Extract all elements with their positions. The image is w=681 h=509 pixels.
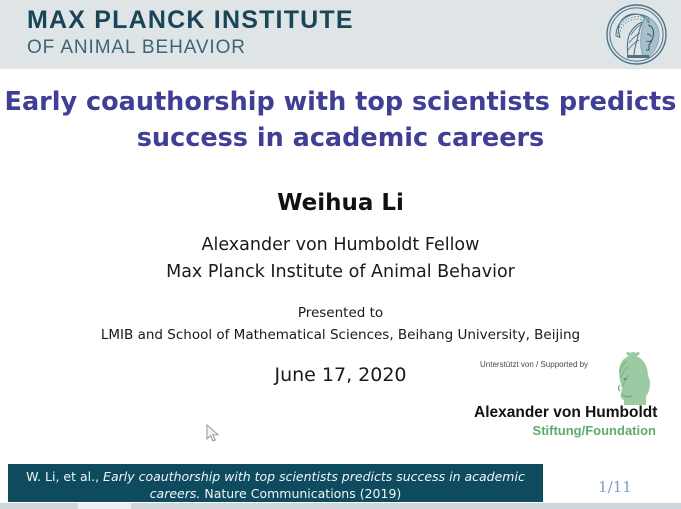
presentation-slide: MAX PLANCK INSTITUTE OF ANIMAL BEHAVIOR … — [0, 0, 681, 509]
mouse-cursor — [206, 424, 220, 443]
max-planck-wordmark: MAX PLANCK INSTITUTE OF ANIMAL BEHAVIOR — [27, 8, 354, 57]
author-name: Weihua Li — [0, 190, 681, 216]
taskbar-active-window-button[interactable] — [78, 503, 131, 509]
footer-citation-text: W. Li, et al., Early coauthorship with t… — [18, 468, 533, 503]
sponsor-logo-block: Unterstützt von / Supported by Alexander… — [474, 352, 670, 440]
affiliation-line-2: Max Planck Institute of Animal Behavior — [0, 259, 681, 286]
presented-to-label: Presented to — [0, 303, 681, 325]
sponsor-subtitle: Stiftung/Foundation — [474, 423, 656, 438]
presented-to-block: Presented to LMIB and School of Mathemat… — [0, 303, 681, 347]
sponsor-caption: Unterstützt von / Supported by — [480, 360, 588, 369]
citation-authors: W. Li, et al., — [26, 469, 103, 484]
presented-to-venue: LMIB and School of Mathematical Sciences… — [0, 325, 681, 347]
author-affiliation: Alexander von Humboldt Fellow Max Planck… — [0, 232, 681, 285]
desktop-taskbar-sliver[interactable] — [0, 503, 681, 509]
institute-name-secondary: OF ANIMAL BEHAVIOR — [27, 38, 354, 57]
page-number: 1/11 — [560, 478, 670, 496]
affiliation-line-1: Alexander von Humboldt Fellow — [0, 232, 681, 259]
slide-header-band: MAX PLANCK INSTITUTE OF ANIMAL BEHAVIOR — [0, 0, 681, 70]
sponsor-name: Alexander von Humboldt — [474, 404, 656, 422]
slide-title: Early coauthorship with top scientists p… — [0, 84, 681, 156]
institute-name-primary: MAX PLANCK INSTITUTE — [27, 8, 354, 33]
minerva-head-icon — [605, 3, 668, 66]
humboldt-head-icon — [614, 352, 654, 407]
citation-journal: Nature Communications (2019) — [200, 486, 401, 501]
footer-citation-bar: W. Li, et al., Early coauthorship with t… — [8, 464, 543, 502]
